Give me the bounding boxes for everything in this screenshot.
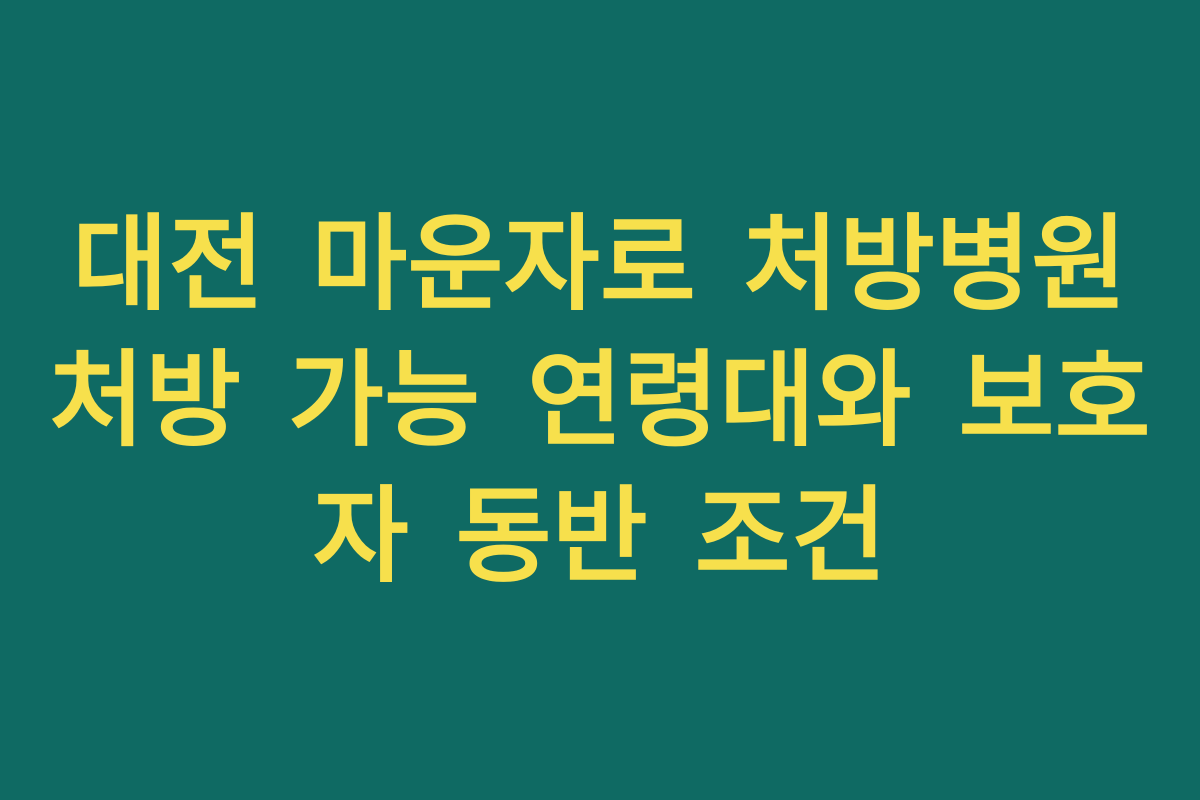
poster-canvas: 대전 마운자로 처방병원 처방 가능 연령대와 보호 자 동반 조건 (0, 0, 1200, 800)
headline-text: 대전 마운자로 처방병원 처방 가능 연령대와 보호 자 동반 조건 (0, 196, 1200, 604)
headline-line-3: 자 동반 조건 (40, 468, 1160, 604)
headline-line-2: 처방 가능 연령대와 보호 (40, 332, 1160, 468)
headline-line-1: 대전 마운자로 처방병원 (40, 196, 1160, 332)
